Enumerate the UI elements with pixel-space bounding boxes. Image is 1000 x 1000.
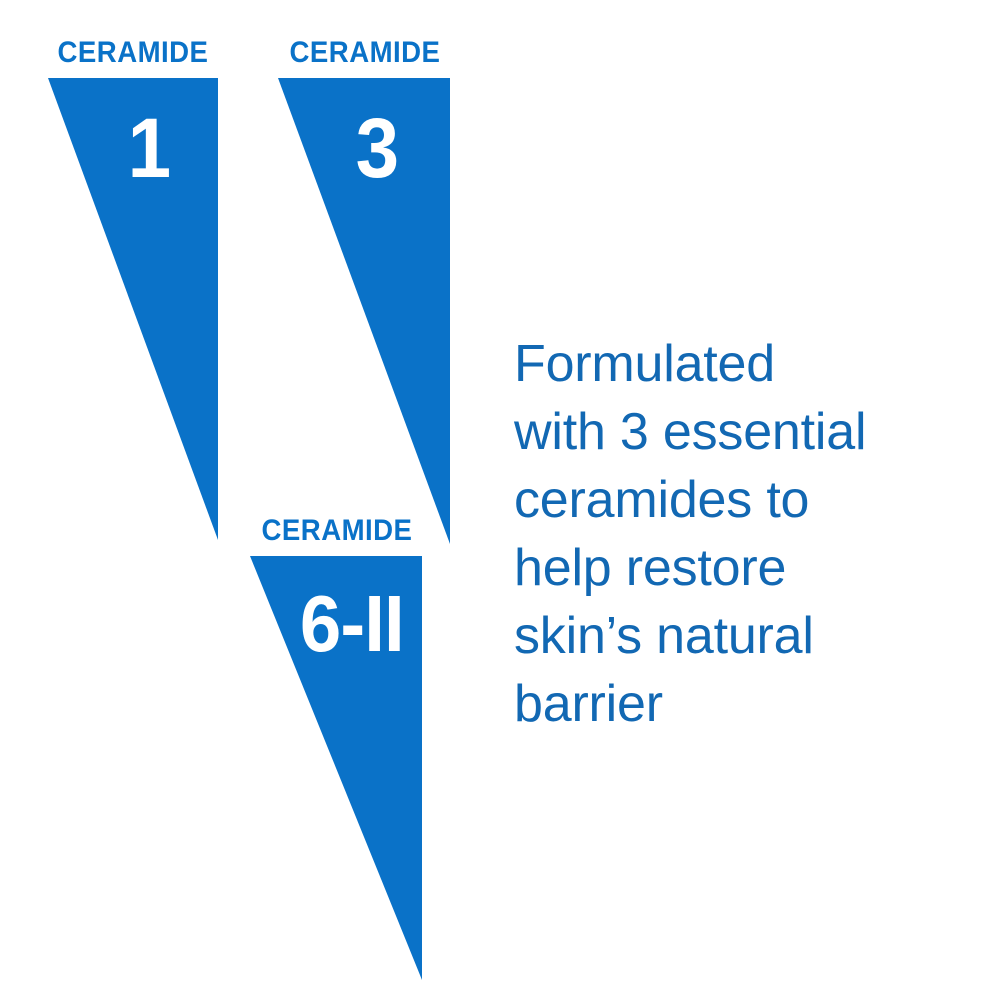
claim-text-block: Formulated with 3 essential ceramides to… <box>514 330 974 738</box>
ceramide-6-ii-number: 6-II <box>300 584 404 664</box>
ceramide-1-number: 1 <box>128 106 171 190</box>
ceramide-infographic: CERAMIDE 1 CERAMIDE 3 CERAMIDE 6-II Form… <box>0 0 1000 1000</box>
claim-line: ceramides to <box>514 466 974 534</box>
ceramide-1-label: CERAMIDE <box>38 38 228 68</box>
ceramide-6-ii-label: CERAMIDE <box>242 516 432 546</box>
ceramide-3-label: CERAMIDE <box>270 38 460 68</box>
claim-line: with 3 essential <box>514 398 974 466</box>
claim-line: Formulated <box>514 330 974 398</box>
claim-line: help restore <box>514 534 974 602</box>
ceramide-3-number: 3 <box>356 106 399 190</box>
claim-line: skin’s natural <box>514 602 974 670</box>
claim-line: barrier <box>514 670 974 738</box>
